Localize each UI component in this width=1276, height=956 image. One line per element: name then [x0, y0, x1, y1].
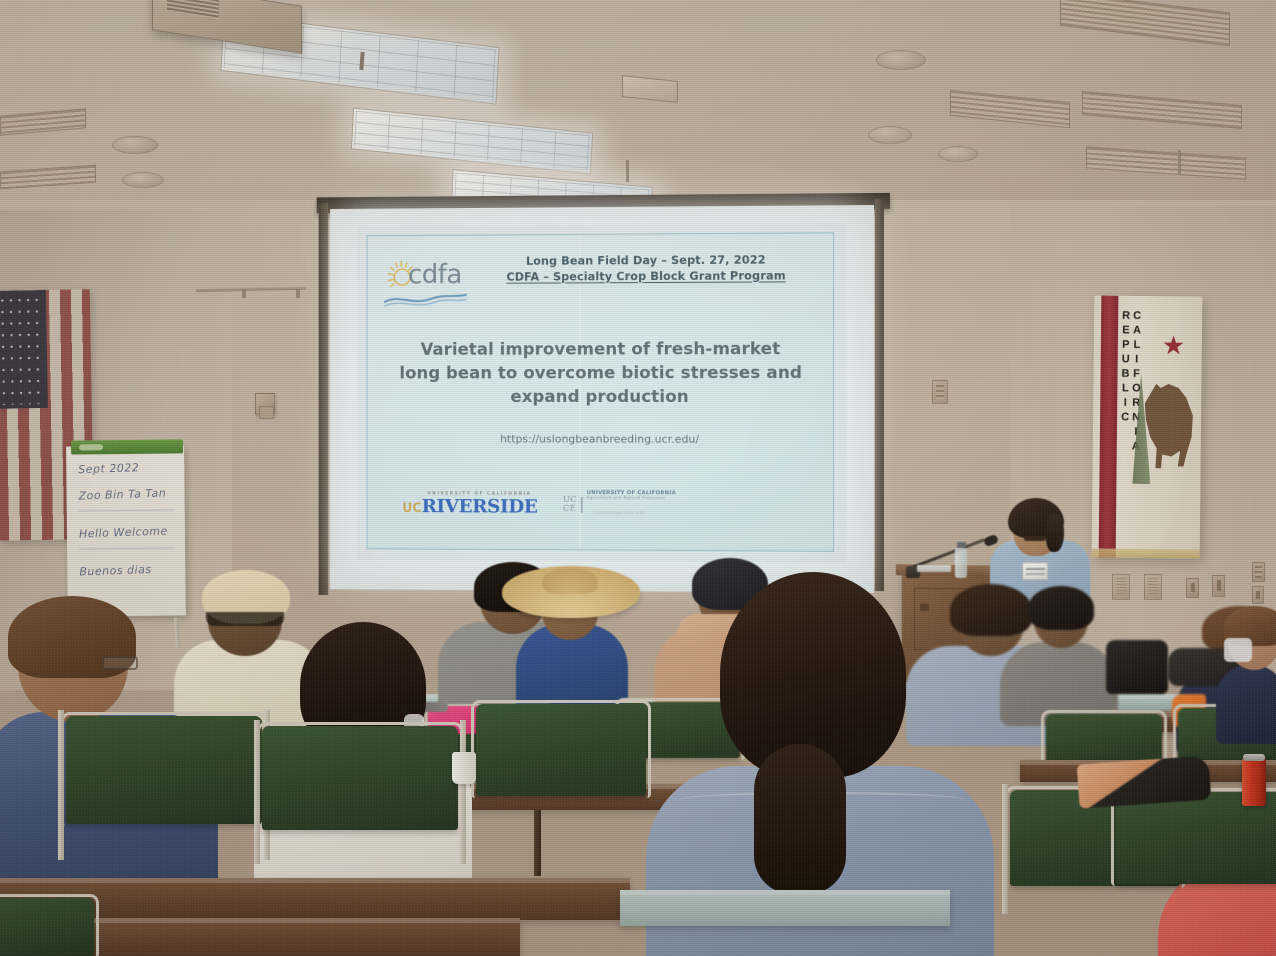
presentation-slide: cdfa Long Bean Field Day – Sept. 27, 202…: [367, 232, 835, 552]
ceiling-vent-3: [1082, 91, 1242, 129]
red-soda-can: [1242, 758, 1266, 806]
ceiling-speaker-4: [112, 136, 158, 154]
ponytail: [754, 744, 846, 894]
chair-front-2[interactable]: [262, 726, 458, 830]
sprinkler-drop-1: [626, 160, 629, 182]
projection-screen: cdfa Long Bean Field Day – Sept. 27, 202…: [330, 205, 874, 605]
wave-icon: [383, 291, 468, 307]
ceiling-vent-6: [0, 165, 96, 190]
ucr-uc-text: UC: [402, 501, 421, 516]
table-front-right: [620, 890, 950, 926]
wall-mounted-sensor: [255, 393, 275, 415]
screen-left-edge: [319, 203, 329, 595]
chair-bottom-left[interactable]: [0, 898, 94, 956]
ceiling-vent-2: [950, 90, 1070, 129]
attendee-straw-hat: [498, 556, 638, 706]
uc-riverside-logo: UNIVERSITY OF CALIFORNIA UCRIVERSIDE: [402, 492, 537, 517]
ucce-extra: | Cooperative Extension: [592, 511, 644, 516]
rail-hook-1: [242, 289, 246, 298]
water-bottle-cap: [957, 542, 966, 548]
sprinkler-drop-2: [1178, 150, 1181, 174]
flipchart-line-2: Zoo Bin Ta Tan: [78, 487, 166, 503]
ceiling-light-panel-2: [351, 108, 593, 175]
flipchart-clamp: [71, 439, 183, 454]
ca-flag-red-bar: [1099, 296, 1119, 558]
ucce-divider: [581, 497, 583, 513]
ucce-text-block: UNIVERSITY OF CALIFORNIA Agriculture and…: [587, 490, 676, 520]
slide-url: https://uslongbeanbreeding.ucr.edu/: [391, 432, 812, 445]
presenter-moustache: [1024, 536, 1046, 541]
ucce-subtitle: Agriculture and Natural Resources: [587, 496, 676, 501]
chair-front-1[interactable]: [66, 716, 262, 824]
soda-can-top: [1243, 754, 1265, 761]
screen-right-edge: [875, 199, 884, 591]
slide-title-line3: expand production: [391, 385, 812, 409]
lectern-paper: [917, 565, 951, 572]
screen-surface: cdfa Long Bean Field Day – Sept. 27, 202…: [330, 205, 874, 593]
ceiling-speaker-2: [868, 126, 912, 144]
flipchart-line-3: Hello Welcome: [79, 524, 168, 540]
ceiling-vent-4: [1086, 146, 1246, 179]
snack-bag: [1077, 755, 1212, 808]
face-mask: [1224, 638, 1252, 662]
water-bottle: [955, 548, 967, 578]
ucce-logo: UC CE UNIVERSITY OF CALIFORNIA Agricultu…: [563, 490, 676, 520]
flipchart-line-1: Sept 2022: [78, 461, 139, 476]
ceiling-speaker-1: [876, 50, 926, 70]
light-switch-1[interactable]: [1186, 578, 1199, 598]
california-flag: CALIFORNIA REPUBLIC: [1092, 295, 1203, 558]
ca-flag-gold-trim: [1092, 548, 1200, 558]
presenter-hair-side: [1046, 514, 1064, 552]
slide-title-line1: Varietal improvement of fresh-market: [391, 337, 812, 362]
ucce-mark-line2: CE: [563, 505, 577, 514]
chair-front-3[interactable]: [476, 704, 646, 796]
wall-outlet-1: [1252, 562, 1265, 582]
coffee-cup: [452, 752, 476, 784]
attendee-grey-sleeve: [1000, 586, 1120, 716]
slide-logo-row: UNIVERSITY OF CALIFORNIA UCRIVERSIDE UC …: [402, 489, 803, 520]
rail-hook-2: [296, 289, 300, 298]
light-switch-2[interactable]: [1212, 575, 1225, 597]
cdfa-logo: cdfa: [383, 255, 472, 307]
attendee-mask-right: [1216, 608, 1276, 728]
slide-title-line2: long bean to overcome biotic stresses an…: [391, 361, 812, 385]
ceiling-vent-5: [0, 108, 86, 136]
conference-room-photo: CALIFORNIA REPUBLIC Sept 2022 Zoo Bin Ta…: [0, 0, 1276, 956]
microphone-stand: [906, 536, 994, 580]
slide-title: Varietal improvement of fresh-market lon…: [391, 337, 812, 409]
cdfa-wordmark: cdfa: [408, 261, 462, 288]
ucr-riverside-text: RIVERSIDE: [422, 495, 538, 517]
slide-header: Long Bean Field Day – Sept. 27, 2022 CDF…: [474, 252, 820, 285]
ucce-monogram: UC CE: [563, 496, 577, 514]
slide-header-line2: CDFA – Specialty Crop Block Grant Progra…: [474, 268, 820, 285]
name-badge: [1022, 562, 1048, 580]
slide-header-line1: Long Bean Field Day – Sept. 27, 2022: [474, 252, 820, 269]
ceiling-speaker-3: [938, 146, 978, 162]
light-switch-3[interactable]: [1252, 586, 1264, 604]
wall-panel-right: [932, 380, 948, 404]
ceiling-speaker-5: [122, 172, 164, 188]
ceiling-vent-1: [1060, 0, 1230, 46]
black-backpack: [1106, 640, 1168, 694]
flipchart-line-4: Buenos dias: [79, 563, 152, 579]
eyeglasses-icon: [102, 656, 138, 670]
ceiling-diffuser: [622, 75, 678, 103]
wall-picture-2: [1144, 574, 1162, 600]
